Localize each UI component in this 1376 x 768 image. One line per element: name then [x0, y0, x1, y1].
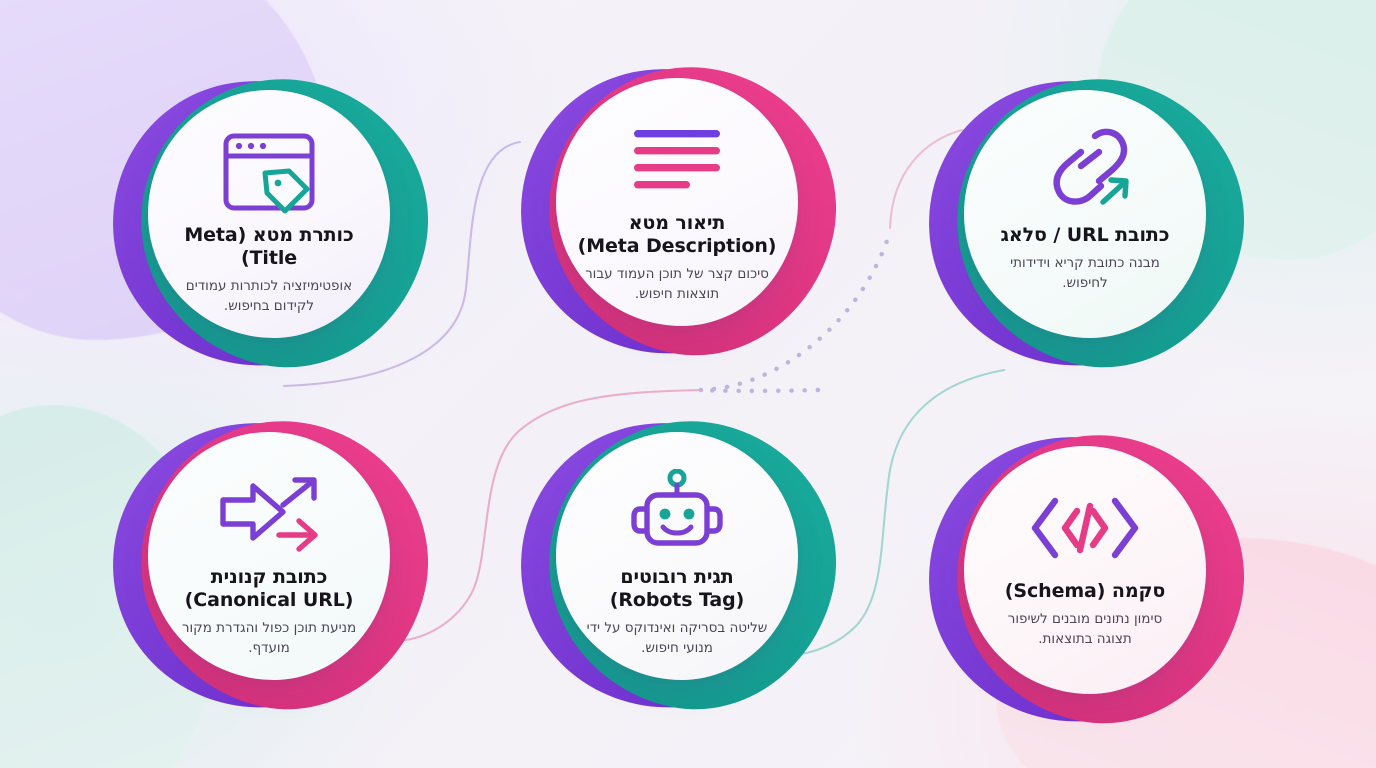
card-title: כותרת מטא (Meta Title)	[148, 224, 390, 270]
card-title-line1: כתובת קנונית	[185, 566, 354, 589]
card-title: כתובת URL / סלאג	[985, 224, 1186, 247]
card-description: מבנה כתובת קריא וידידותי לחיפוש.	[964, 254, 1206, 293]
card-robots-tag[interactable]: תגית רובוטים (Robots Tag) שליטה בסריקה ו…	[534, 416, 820, 702]
card-meta-title[interactable]: כותרת מטא (Meta Title) אופטימיזציה לכותר…	[126, 74, 412, 360]
text-lines-icon	[632, 108, 722, 212]
card-title: תיאור מטא (Meta Description)	[562, 212, 793, 258]
card-title-line2: (Canonical URL)	[185, 589, 354, 612]
browser-tag-icon	[219, 120, 319, 224]
card-title-line2: (Robots Tag)	[610, 589, 744, 612]
link-arrow-icon	[1037, 120, 1133, 224]
card-schema[interactable]: סקמה (Schema) סימון נתונים מובנים לשיפור…	[942, 430, 1228, 716]
card-title-line1: תגית רובוטים	[610, 566, 744, 589]
card-surface: כתובת קנונית (Canonical URL) מניעת תוכן …	[148, 432, 390, 680]
card-surface: תיאור מטא (Meta Description) סיכום קצר ש…	[556, 78, 798, 326]
card-surface: סקמה (Schema) סימון נתונים מובנים לשיפור…	[964, 446, 1206, 694]
code-brackets-icon	[1029, 476, 1141, 580]
card-title-line2: (Meta Description)	[578, 235, 777, 258]
card-title: כתובת קנונית (Canonical URL)	[169, 566, 370, 612]
card-surface: כותרת מטא (Meta Title) אופטימיזציה לכותר…	[148, 90, 390, 338]
card-canonical-url[interactable]: כתובת קנונית (Canonical URL) מניעת תוכן …	[126, 416, 412, 702]
card-title: סקמה (Schema)	[989, 580, 1181, 603]
card-meta-description[interactable]: תיאור מטא (Meta Description) סיכום קצר ש…	[534, 62, 820, 348]
card-title: תגית רובוטים (Robots Tag)	[594, 566, 760, 612]
card-surface: כתובת URL / סלאג מבנה כתובת קריא וידידות…	[964, 90, 1206, 338]
card-surface: תגית רובוטים (Robots Tag) שליטה בסריקה ו…	[556, 432, 798, 680]
robot-icon	[629, 462, 725, 566]
card-title-line1: תיאור מטא	[578, 212, 777, 235]
card-description: סימון נתונים מובנים לשיפור תצוגה בתוצאות…	[964, 610, 1206, 649]
card-url-slug[interactable]: כתובת URL / סלאג מבנה כתובת קריא וידידות…	[942, 74, 1228, 360]
split-arrows-icon	[217, 462, 321, 566]
